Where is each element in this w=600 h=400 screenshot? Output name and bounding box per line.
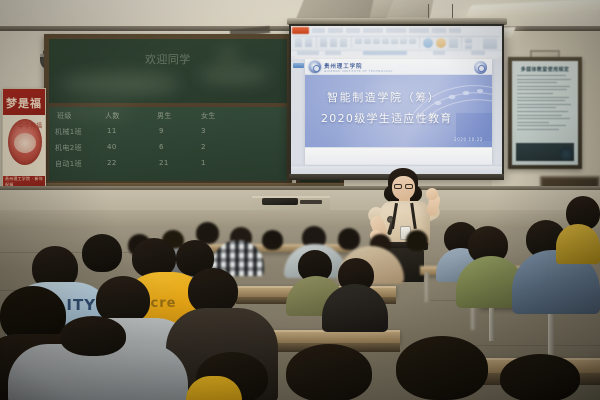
audience-head (262, 230, 283, 250)
blackboard-cell: 机械1班 (55, 127, 82, 137)
blackboard-cell: 3 (201, 127, 206, 135)
slide-university-name-sub: GUIZHOU INSTITUTE OF TECHNOLOGY (324, 69, 393, 73)
photo-canvas: 欢迎同学 班级 人数 男生 女生 机械1班 11 9 3 机电2班 40 6 2… (0, 0, 600, 400)
audience-head-front (286, 344, 372, 400)
blackboard-upper-panel: 欢迎同学 (49, 39, 287, 107)
presenter-hand-right (426, 188, 438, 200)
blackboard-cell: 男生 (157, 111, 172, 121)
podium-equipment (262, 198, 298, 205)
blackboard-cell: 9 (159, 127, 164, 135)
audience-shoulders (556, 224, 600, 264)
ribbon-tab[interactable] (432, 28, 446, 33)
audience-head-front (396, 336, 488, 400)
audience-head (406, 230, 428, 251)
bench-leg (489, 305, 494, 341)
glasses-icon (405, 184, 413, 189)
blackboard-cell: 女生 (201, 111, 216, 121)
notice-board-text-lines (517, 75, 573, 133)
ribbon-tab[interactable] (346, 28, 360, 33)
poster-top-text: 梦是福 (6, 95, 42, 111)
slide-date-text: 2020.10.22 (454, 137, 483, 142)
notice-board-title: 多媒体教室使用规定 (512, 66, 578, 73)
powerpoint-ribbon[interactable] (291, 26, 502, 56)
poster-banner: 梦是福 (3, 89, 45, 115)
slide-title-line-2: 2020级学生适应性教育 (321, 110, 453, 126)
blackboard-cell: 自动1班 (55, 159, 82, 169)
ribbon-tab[interactable] (328, 28, 343, 33)
ceiling-duct-secondary (370, 0, 435, 18)
blackboard-cell: 22 (107, 159, 117, 167)
blackboard-cell: 40 (107, 143, 117, 151)
glasses-icon (394, 184, 402, 189)
ribbon-file-tab[interactable] (292, 27, 309, 34)
blackboard-cell: 1 (201, 159, 206, 167)
slide-secondary-seal-icon (474, 61, 487, 74)
ribbon-tab[interactable] (449, 28, 461, 33)
blackboard-cell: 11 (107, 127, 117, 135)
projection-screen: 贵州理工学院 GUIZHOU INSTITUTE OF TECHNOLOGY (289, 24, 504, 176)
blackboard-cell: 2 (201, 143, 206, 151)
bench-leg (425, 272, 429, 302)
slide-panel-left-gutter (291, 59, 305, 165)
university-seal-icon (309, 61, 321, 73)
slide-footer-band (305, 147, 492, 165)
blackboard: 欢迎同学 班级 人数 男生 女生 机械1班 11 9 3 机电2班 40 6 2… (44, 34, 292, 186)
poster-papercut-center (14, 133, 36, 153)
slide-title-block: 智能制造学院（筹） 2020级学生适应性教育 2020.10.22 (305, 75, 492, 147)
blackboard-cell: 21 (159, 159, 169, 167)
current-slide[interactable]: 贵州理工学院 GUIZHOU INSTITUTE OF TECHNOLOGY (305, 59, 492, 165)
blackboard-lower-panel: 班级 人数 男生 女生 机械1班 11 9 3 机电2班 40 6 2 自动1班… (49, 107, 287, 181)
poster-side-text: 中华有福 (18, 123, 42, 130)
ribbon-tab[interactable] (409, 28, 429, 33)
blackboard-cell: 机电2班 (55, 143, 82, 153)
audience-head-front (60, 316, 126, 356)
slide-thumbnail-chip[interactable] (293, 63, 304, 68)
blackboard-headline: 欢迎同学 (145, 51, 191, 67)
slide-title-line-1: 智能制造学院（筹） (327, 89, 440, 105)
audience-head-front (500, 354, 580, 400)
blackboard-cell: 6 (159, 143, 164, 151)
slide-header-band: 贵州理工学院 GUIZHOU INSTITUTE OF TECHNOLOGY (305, 59, 492, 75)
platform-edge (0, 186, 600, 190)
platform-face (0, 210, 600, 230)
ribbon-tab[interactable] (386, 28, 406, 33)
ribbon-tab[interactable] (312, 28, 325, 33)
audience-head (82, 234, 122, 272)
audience-head (338, 228, 360, 250)
notice-board: 多媒体教室使用规定 (508, 57, 582, 169)
ribbon-tab[interactable] (363, 28, 383, 33)
podium-equipment-secondary (300, 200, 322, 204)
notice-board-seal-icon (559, 147, 573, 161)
new-year-poster: 梦是福 中华有福 贵州理工学院 · 新年祝福 (2, 88, 46, 193)
